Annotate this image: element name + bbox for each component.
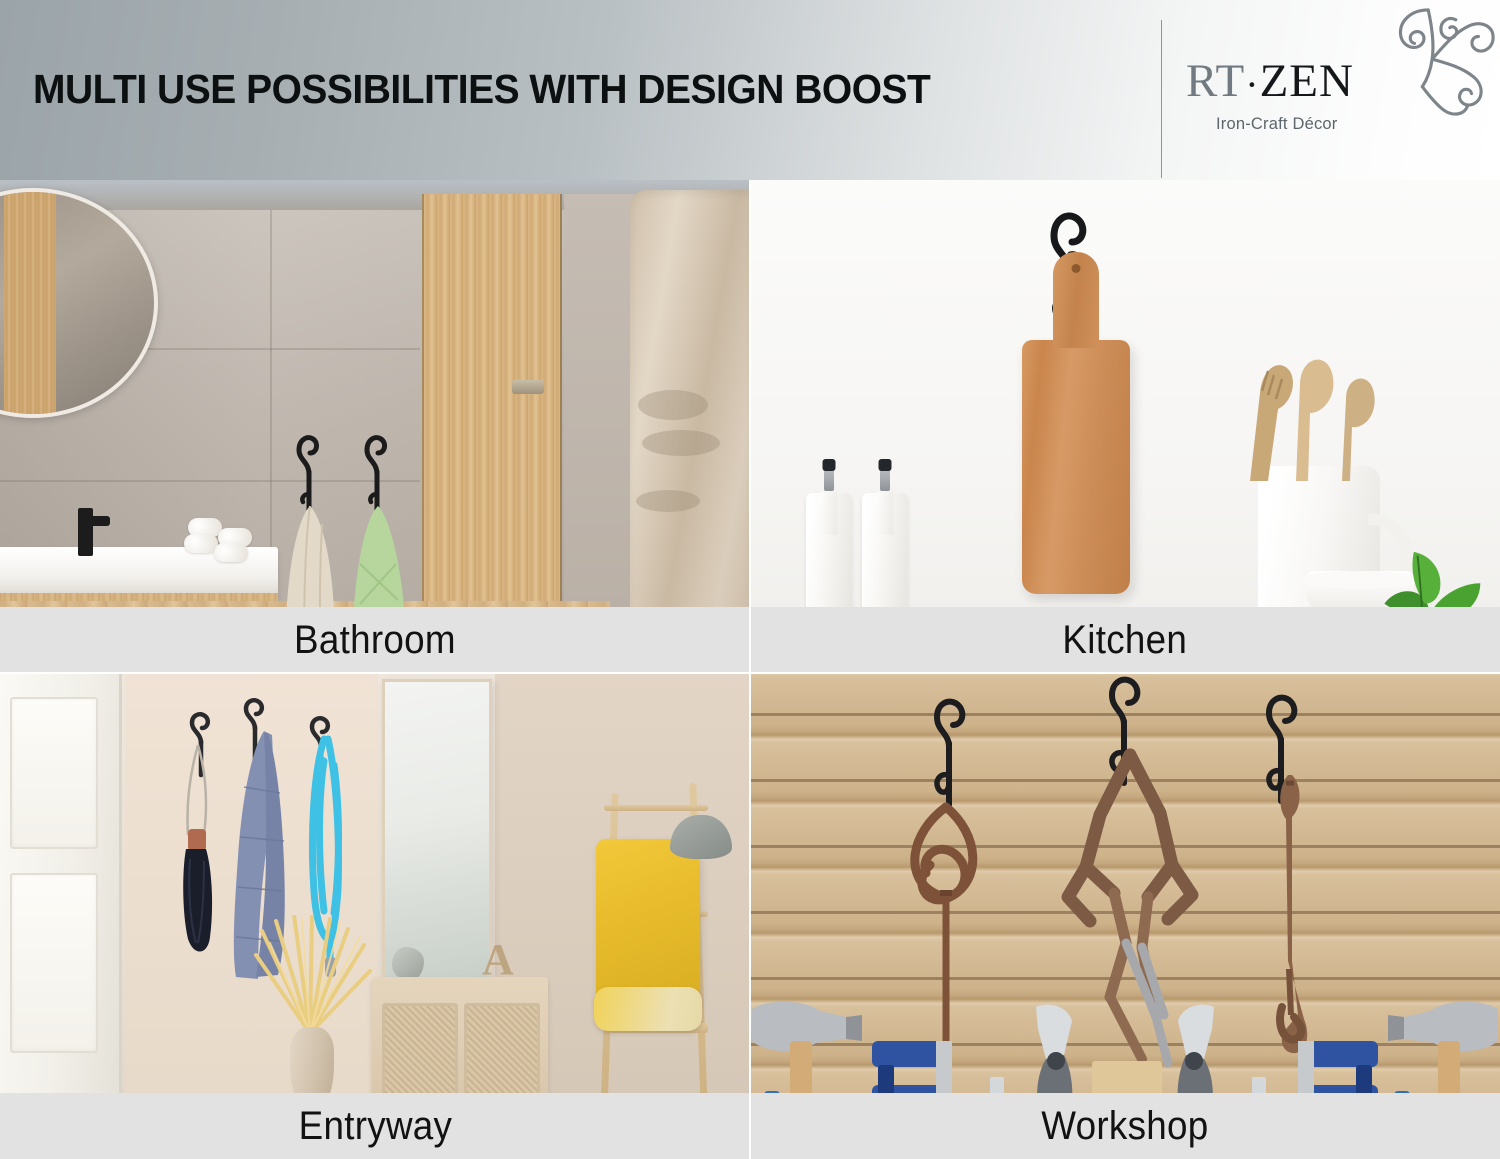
grid-cell-workshop[interactable]: Workshop — [750, 673, 1500, 1159]
brand-name-separator: · — [1245, 62, 1259, 107]
label-bar-bathroom: Bathroom — [0, 607, 750, 673]
kitchen-scene — [750, 180, 1500, 673]
grid-horizontal-divider — [0, 672, 1500, 674]
bottle-neck — [877, 491, 894, 535]
cabinet-door[interactable] — [382, 1003, 458, 1099]
dried-pampas-vase-plumes — [246, 915, 376, 1035]
header-divider — [1161, 20, 1162, 178]
brand-name-part2: ZEN — [1260, 55, 1354, 107]
door-panel — [10, 697, 98, 849]
mirror-reflection-wood — [4, 192, 56, 414]
cabinet-door[interactable] — [464, 1003, 540, 1099]
ladder-rung — [604, 805, 708, 811]
door-panel — [10, 873, 98, 1053]
grid-vertical-divider — [749, 180, 751, 1159]
robe-fold — [636, 490, 700, 512]
infographic-page: MULTI USE POSSIBILITIES WITH DESIGN BOOS… — [0, 0, 1500, 1159]
black-faucet — [78, 508, 93, 556]
yellow-blanket — [596, 839, 700, 1009]
bottle-neck — [821, 491, 838, 535]
towel-roll — [184, 534, 218, 553]
robe-fold — [638, 390, 708, 420]
label-bathroom: Bathroom — [294, 618, 456, 663]
tile-seam — [0, 480, 420, 482]
white-panel-door — [0, 673, 122, 1093]
grid-cell-entryway[interactable]: A — [0, 673, 750, 1159]
label-entryway: Entryway — [298, 1104, 452, 1149]
robe-fold — [642, 430, 720, 456]
bathroom-scene — [0, 180, 750, 673]
towel-roll — [214, 543, 248, 562]
scene-grid: Bathroom — [0, 180, 1500, 1159]
board-handle — [1053, 252, 1099, 348]
wooden-cutting-board — [1022, 340, 1130, 594]
header-banner: MULTI USE POSSIBILITIES WITH DESIGN BOOS… — [0, 0, 1500, 180]
label-bar-entryway: Entryway — [0, 1093, 750, 1159]
yellow-pillow — [594, 987, 702, 1031]
bottle-spout — [824, 469, 834, 491]
page-title: MULTI USE POSSIBILITIES WITH DESIGN BOOS… — [33, 66, 930, 113]
wooden-utensils — [1234, 333, 1382, 483]
bottle-cap — [823, 459, 836, 471]
label-kitchen: Kitchen — [1063, 618, 1188, 663]
workshop-scene — [750, 673, 1500, 1159]
stone-decor — [392, 947, 424, 981]
door-knob — [512, 380, 544, 394]
label-bar-kitchen: Kitchen — [750, 607, 1500, 673]
board-hanging-hole — [1072, 264, 1081, 273]
brand-name-part1: RT — [1186, 55, 1245, 107]
rolled-towels — [184, 518, 262, 560]
label-workshop: Workshop — [1041, 1104, 1208, 1149]
bottle-spout — [880, 469, 890, 491]
bottle-cap — [879, 459, 892, 471]
label-bar-workshop: Workshop — [750, 1093, 1500, 1159]
grid-cell-kitchen[interactable]: Kitchen — [750, 180, 1500, 673]
entryway-scene: A — [0, 673, 750, 1159]
beige-bathrobe — [630, 190, 750, 673]
grid-cell-bathroom[interactable]: Bathroom — [0, 180, 750, 673]
scroll-flourish-icon — [1383, 2, 1500, 130]
